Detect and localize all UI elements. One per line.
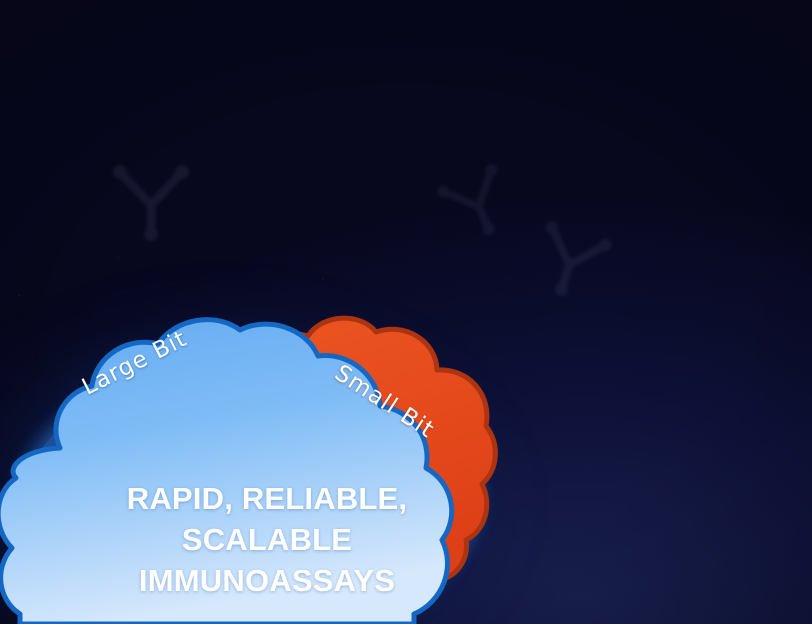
headline-line-2: SCALABLE	[58, 519, 476, 560]
headline: RAPID, RELIABLE, SCALABLE IMMUNOASSAYS	[58, 478, 476, 602]
headline-line-1: RAPID, RELIABLE,	[58, 478, 476, 519]
headline-line-3: IMMUNOASSAYS	[58, 560, 476, 601]
hero-banner: Large Bit Small Bit RAPID, RELIABLE, SCA…	[0, 0, 812, 624]
